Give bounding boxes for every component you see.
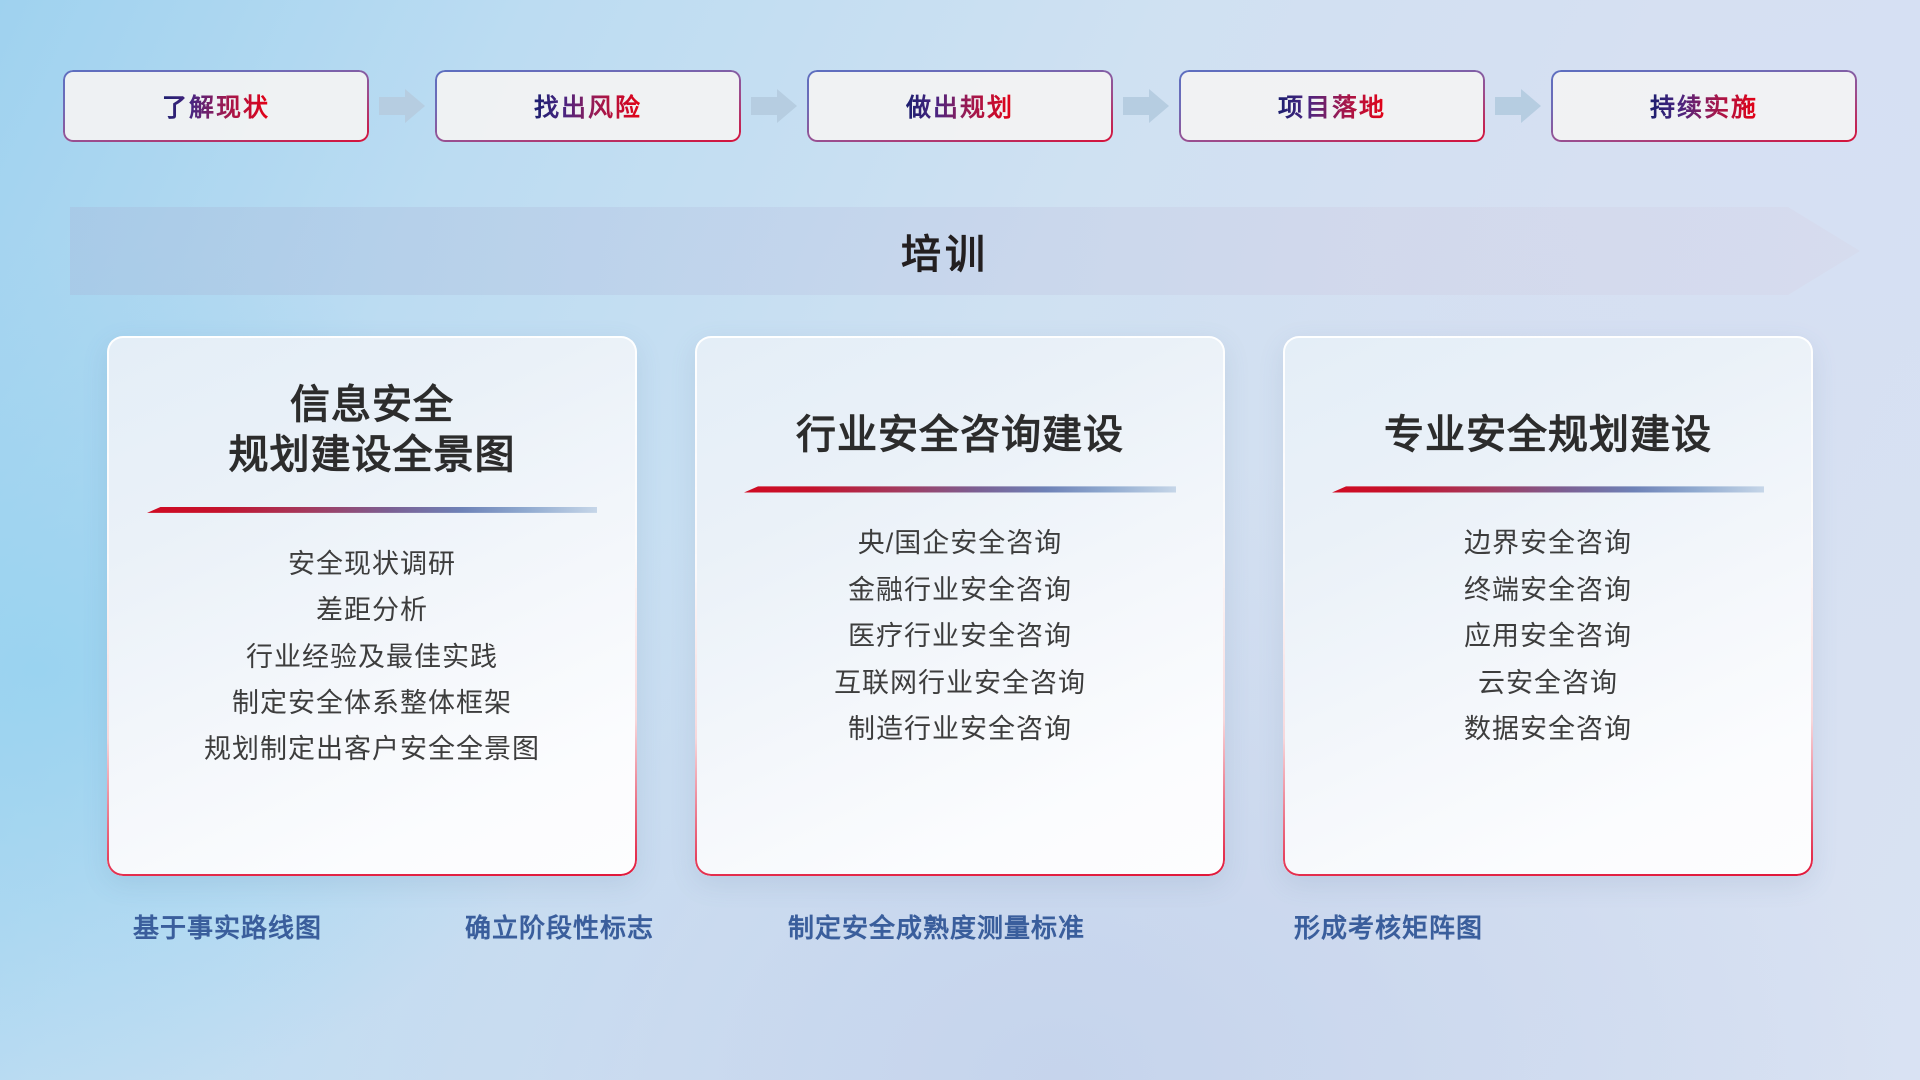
stage-box-1[interactable]: 了解现状 (63, 70, 369, 142)
card-list-item[interactable]: 行业经验及最佳实践 (246, 641, 498, 673)
stage-label: 项目落地 (1278, 88, 1386, 124)
right-block-arrow-icon (751, 89, 797, 123)
right-block-arrow-icon (1123, 89, 1169, 123)
arrow-shaft (1123, 97, 1149, 115)
arrow-head (405, 89, 425, 123)
card-item-list: 央/国企安全咨询金融行业安全咨询医疗行业安全咨询互联网行业安全咨询制造行业安全咨… (834, 527, 1086, 745)
arrow-shaft (751, 97, 777, 115)
stage-label: 了解现状 (162, 88, 270, 124)
stage-label: 做出规划 (906, 88, 1014, 124)
arrow-shaft (1495, 97, 1521, 115)
service-card-1[interactable]: 信息安全 规划建设全景图安全现状调研差距分析行业经验及最佳实践制定安全体系整体框… (107, 336, 637, 876)
footnote-label-3: 制定安全成熟度测量标准 (788, 908, 1085, 945)
footnote-label-2: 确立阶段性标志 (465, 908, 654, 945)
card-list-item[interactable]: 差距分析 (316, 594, 428, 626)
service-card-2[interactable]: 行业安全咨询建设央/国企安全咨询金融行业安全咨询医疗行业安全咨询互联网行业安全咨… (695, 336, 1225, 876)
card-list-item[interactable]: 金融行业安全咨询 (848, 574, 1072, 606)
card-title: 行业安全咨询建设 (796, 410, 1124, 460)
right-block-arrow-icon (1495, 89, 1541, 123)
right-block-arrow-icon (379, 89, 425, 123)
stage-label: 持续实施 (1650, 88, 1758, 124)
card-list-item[interactable]: 云安全咨询 (1478, 667, 1618, 699)
footnote-label-4: 形成考核矩阵图 (1294, 908, 1483, 945)
card-list-item[interactable]: 医疗行业安全咨询 (848, 620, 1072, 652)
card-list-item[interactable]: 央/国企安全咨询 (858, 527, 1063, 559)
process-flow-strip: 了解现状找出风险做出规划项目落地持续实施 (0, 68, 1920, 144)
cards-row: 信息安全 规划建设全景图安全现状调研差距分析行业经验及最佳实践制定安全体系整体框… (0, 336, 1920, 876)
stage-box-2[interactable]: 找出风险 (435, 70, 741, 142)
card-list-item[interactable]: 边界安全咨询 (1464, 527, 1632, 559)
card-list-item[interactable]: 互联网行业安全咨询 (834, 667, 1086, 699)
stage-box-3[interactable]: 做出规划 (807, 70, 1113, 142)
stage-box-5[interactable]: 持续实施 (1551, 70, 1857, 142)
arrow-head (777, 89, 797, 123)
footnote-label-1: 基于事实路线图 (133, 908, 322, 945)
card-divider (1332, 486, 1764, 497)
card-list-item[interactable]: 制定安全体系整体框架 (232, 687, 512, 719)
card-list-item[interactable]: 安全现状调研 (288, 548, 456, 580)
card-list-item[interactable]: 制造行业安全咨询 (848, 713, 1072, 745)
arrow-shaft (379, 97, 405, 115)
card-list-item[interactable]: 规划制定出客户安全全景图 (204, 733, 540, 765)
training-banner-label: 培训 (901, 222, 989, 280)
footnotes-row: 基于事实路线图确立阶段性标志制定安全成熟度测量标准形成考核矩阵图 (0, 908, 1920, 952)
card-list-item[interactable]: 应用安全咨询 (1464, 620, 1632, 652)
stage-box-4[interactable]: 项目落地 (1179, 70, 1485, 142)
card-divider (744, 486, 1176, 497)
arrow-head (1521, 89, 1541, 123)
training-banner: 培训 (70, 207, 1860, 295)
card-item-list: 边界安全咨询终端安全咨询应用安全咨询云安全咨询数据安全咨询 (1464, 527, 1632, 745)
card-title: 专业安全规划建设 (1384, 410, 1712, 460)
card-list-item[interactable]: 终端安全咨询 (1464, 574, 1632, 606)
card-title: 信息安全 规划建设全景图 (229, 380, 516, 481)
service-card-3[interactable]: 专业安全规划建设边界安全咨询终端安全咨询应用安全咨询云安全咨询数据安全咨询 (1283, 336, 1813, 876)
card-item-list: 安全现状调研差距分析行业经验及最佳实践制定安全体系整体框架规划制定出客户安全全景… (204, 548, 540, 766)
stage-label: 找出风险 (534, 88, 642, 124)
card-divider (147, 507, 597, 518)
arrow-head (1149, 89, 1169, 123)
card-list-item[interactable]: 数据安全咨询 (1464, 713, 1632, 745)
